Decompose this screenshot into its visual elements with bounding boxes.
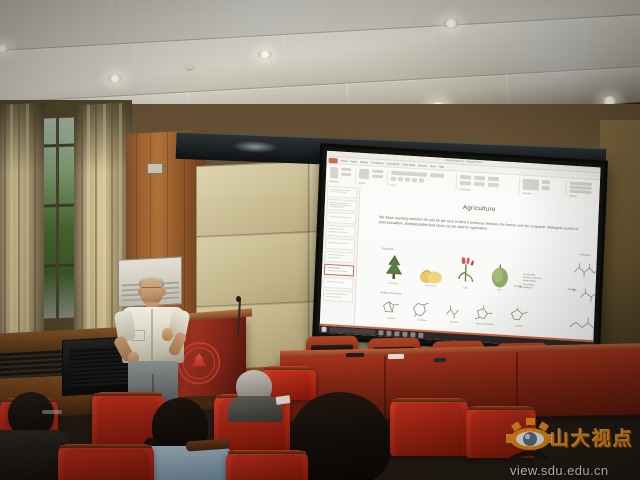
presenter-shirt-placket <box>151 309 153 361</box>
ribbon-group-label: Slides <box>359 183 365 185</box>
powerpoint-window[interactable]: Presentation1 - PowerPoint Home Insert D… <box>319 151 600 350</box>
slide-thumbnail[interactable] <box>325 238 355 251</box>
ribbon-group-clipboard[interactable]: Clipboard <box>329 165 354 184</box>
glycerol-structure <box>443 303 464 320</box>
paper-sheet <box>388 354 404 359</box>
window <box>40 117 78 318</box>
slide-thumbnail[interactable] <box>324 251 354 264</box>
chemical-caption: Pinene <box>377 317 405 321</box>
feedstock-caption: Pine tree <box>379 282 409 286</box>
ribbon-group-font[interactable]: Font <box>391 169 454 191</box>
corn-starch-illustration <box>419 266 444 285</box>
slide-canvas[interactable]: Agriculture We loose anything between 45… <box>355 186 599 340</box>
chemical-caption: Furfural <box>505 325 533 329</box>
functionality-list: Functionality Moisture resistance Organo… <box>522 274 567 293</box>
auditorium-seat[interactable] <box>390 398 468 456</box>
tab-animations[interactable]: Animations <box>387 162 400 166</box>
chemical-caption: Itaconic anhydride <box>467 323 503 327</box>
eye-gear-logo <box>506 418 554 462</box>
taskbar-search-input[interactable] <box>329 327 375 335</box>
slide-thumbnail[interactable] <box>323 290 353 303</box>
section-label-feedstock: Feedstock <box>382 247 394 251</box>
eyeglasses-icon <box>42 410 62 414</box>
start-button-icon[interactable] <box>321 327 326 332</box>
tab-file[interactable] <box>329 157 338 163</box>
section-label-platform-chemicals: Platform chemicals <box>380 291 401 295</box>
tab-insert[interactable]: Insert <box>350 160 357 163</box>
section-label-polymers: Polymers <box>580 253 591 257</box>
watermark-url: view.sdu.edu.cn <box>510 463 609 478</box>
pine-tree-illustration <box>383 253 406 282</box>
tab-home[interactable]: Home <box>341 159 348 162</box>
ceiling-downlight <box>443 18 459 29</box>
slide-thumbnail[interactable] <box>325 225 355 238</box>
slide-thumbnail[interactable] <box>323 277 353 290</box>
tab-view[interactable]: View <box>430 165 436 168</box>
ribbon-group-label: Font <box>391 185 396 187</box>
presenter-glasses <box>141 287 161 292</box>
tab-transitions[interactable]: Transitions <box>371 161 384 165</box>
ribbon-group-label: Editing <box>569 196 576 198</box>
limonene-structure <box>411 301 432 318</box>
polymer-chain-2 <box>578 287 601 305</box>
polymer-chain-3 <box>569 315 601 337</box>
store-icon[interactable] <box>402 332 407 337</box>
presenter-right-hand <box>162 328 173 341</box>
projection-screen: Presentation1 - PowerPoint Home Insert D… <box>312 143 608 356</box>
polymer-chain-1 <box>573 261 601 282</box>
slide-thumbnail-panel[interactable] <box>320 184 361 326</box>
tab-help[interactable]: Help <box>438 165 443 168</box>
tab-slide-show[interactable]: Slide Show <box>402 163 415 167</box>
slide-thumbnail-selected[interactable] <box>324 264 354 277</box>
slide-thumbnail[interactable] <box>326 212 356 225</box>
curtain-left <box>0 103 44 337</box>
remote-control[interactable] <box>346 353 364 357</box>
edge-icon[interactable] <box>386 331 391 336</box>
tab-design[interactable]: Design <box>360 160 368 163</box>
ribbon-group-editing[interactable]: Editing <box>569 180 596 200</box>
auditorium-seat[interactable] <box>58 444 154 480</box>
ceiling-downlight <box>258 50 272 59</box>
presenter-ear <box>162 289 166 296</box>
feedstock-caption: Tulip <box>452 287 478 291</box>
audience-shoulders <box>228 396 282 422</box>
flow-arrow <box>514 285 522 286</box>
ceiling-downlight <box>108 74 122 83</box>
ribbon-group-drawing[interactable]: Drawing <box>522 177 563 197</box>
tab-review[interactable]: Review <box>418 164 427 168</box>
auditorium-seat[interactable] <box>226 450 308 480</box>
chemical-caption: Limonene <box>407 319 437 323</box>
photograph-lecture-hall: Presentation1 - PowerPoint Home Insert D… <box>0 0 640 480</box>
furfural-structure <box>509 307 530 324</box>
pinene-structure <box>381 299 402 316</box>
watermark: 山大视点 view.sdu.edu.cn <box>506 416 638 478</box>
watermark-brand: 山大视点 <box>550 424 634 451</box>
slide-thumbnail[interactable] <box>327 199 357 212</box>
itaconic-anhydride-structure <box>473 305 496 322</box>
explorer-icon[interactable] <box>394 331 399 336</box>
flow-arrow <box>567 289 575 290</box>
smoke-detector <box>186 64 193 69</box>
wall-switch-plate[interactable] <box>147 163 163 174</box>
mail-icon[interactable] <box>410 332 415 337</box>
feedstock-caption: Okra <box>486 289 512 293</box>
task-view-icon[interactable] <box>378 330 383 335</box>
valance-glare <box>232 140 278 154</box>
ribbon-group-paragraph[interactable]: Paragraph <box>459 173 516 194</box>
ribbon-group-slides[interactable]: Slides <box>359 167 386 187</box>
presenter <box>110 278 196 406</box>
tulip-illustration <box>454 256 477 287</box>
slide-body-text: We loose anything between 45 and 55 per … <box>379 215 578 238</box>
microphone-icon <box>236 296 241 302</box>
chemical-caption: Glycerol <box>439 321 469 325</box>
nameplate <box>434 358 446 362</box>
slide-thumbnail[interactable] <box>327 186 357 199</box>
okra-illustration <box>488 264 511 289</box>
